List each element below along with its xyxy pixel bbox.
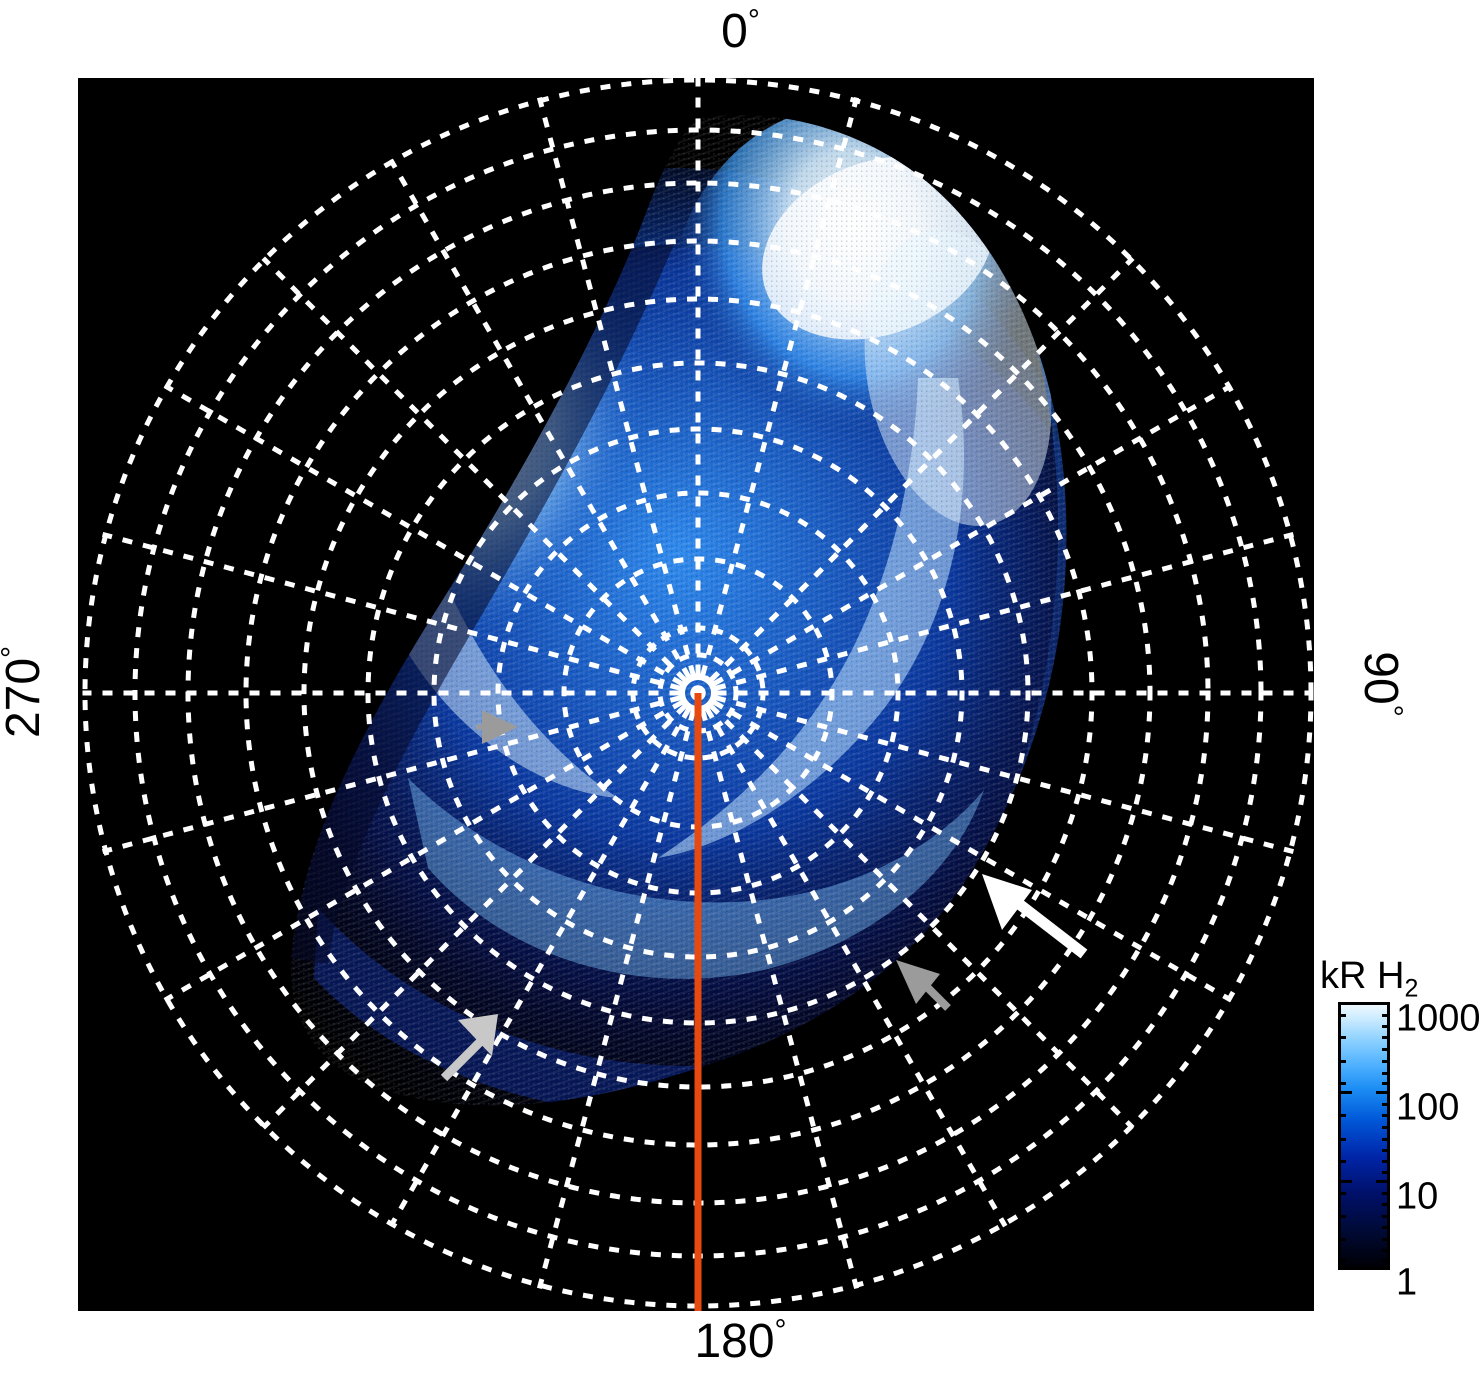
colorbar-tick-1000: [1376, 1002, 1390, 1005]
colorbar-minor-tick: [1382, 1014, 1390, 1017]
colorbar-label-1: 1: [1396, 1262, 1417, 1305]
colorbar-minor-tick: [1382, 1060, 1390, 1063]
colorbar-tick-1: [1376, 1267, 1390, 1270]
colorbar-minor-tick: [1382, 1082, 1390, 1085]
azimuth-label-90: 90°: [1356, 604, 1404, 764]
azimuth-label-270: 270°: [0, 612, 48, 772]
colorbar-minor-tick: [1382, 1103, 1390, 1106]
colorbar-tick-10-left: [1338, 1180, 1352, 1183]
colorbar-minor-tick-left: [1338, 1114, 1346, 1117]
colorbar-label-1000: 1000: [1396, 998, 1481, 1041]
colorbar-minor-tick-left: [1338, 1259, 1346, 1262]
azimuth-label-0-text: 0: [721, 5, 748, 58]
colorbar-tick-1000-left: [1338, 1002, 1352, 1005]
colorbar-minor-tick: [1382, 1138, 1390, 1141]
degree-symbol-0: °: [748, 4, 760, 37]
colorbar-title-main: kR H: [1320, 955, 1404, 997]
polar-plot-canvas: .grid { fill:none; stroke:#ffffff; strok…: [78, 78, 1314, 1311]
degree-symbol-270: °: [0, 646, 29, 658]
colorbar-minor-tick-left: [1338, 1160, 1346, 1163]
colorbar-label-10: 10: [1396, 1176, 1438, 1219]
colorbar: kR H2: [1318, 955, 1481, 1325]
colorbar-minor-tick: [1382, 1215, 1390, 1218]
azimuth-label-270-text: 270: [0, 658, 50, 738]
colorbar-minor-tick: [1382, 1126, 1390, 1129]
azimuth-label-0: 0°: [0, 8, 1481, 56]
azimuth-label-90-text: 90: [1354, 651, 1407, 704]
colorbar-minor-tick: [1382, 1238, 1390, 1241]
colorbar-minor-tick-left: [1338, 1215, 1346, 1218]
colorbar-tick-1-left: [1338, 1267, 1352, 1270]
colorbar-minor-tick-left: [1338, 1014, 1346, 1017]
figure-root: .grid { fill:none; stroke:#ffffff; strok…: [0, 0, 1481, 1386]
polar-plot-panel: .grid { fill:none; stroke:#ffffff; strok…: [78, 78, 1314, 1311]
colorbar-minor-tick: [1382, 1048, 1390, 1051]
colorbar-minor-tick: [1382, 1249, 1390, 1252]
colorbar-label-100: 100: [1396, 1087, 1459, 1130]
colorbar-tick-10: [1376, 1180, 1390, 1183]
azimuth-label-180: 180°: [0, 1318, 1481, 1366]
degree-symbol-90: °: [1375, 705, 1408, 717]
colorbar-minor-tick-left: [1338, 1192, 1346, 1195]
colorbar-minor-tick: [1382, 1072, 1390, 1075]
colorbar-minor-tick: [1382, 1025, 1390, 1028]
colorbar-minor-tick-left: [1338, 1138, 1346, 1141]
colorbar-minor-tick: [1382, 1192, 1390, 1195]
colorbar-minor-tick-left: [1338, 1060, 1346, 1063]
azimuth-label-180-text: 180: [694, 1315, 774, 1368]
colorbar-tick-100-left: [1338, 1091, 1352, 1094]
colorbar-minor-tick: [1382, 1149, 1390, 1152]
colorbar-tick-marks: [1338, 1002, 1390, 1270]
degree-symbol-180: °: [775, 1314, 787, 1347]
colorbar-minor-tick-left: [1338, 1036, 1346, 1039]
colorbar-minor-tick: [1382, 1114, 1390, 1117]
colorbar-minor-tick-left: [1338, 1082, 1346, 1085]
colorbar-minor-tick: [1382, 1036, 1390, 1039]
colorbar-minor-tick: [1382, 1160, 1390, 1163]
colorbar-minor-tick: [1382, 1226, 1390, 1229]
colorbar-minor-tick: [1382, 1171, 1390, 1174]
colorbar-minor-tick: [1382, 1203, 1390, 1206]
colorbar-minor-tick: [1382, 1259, 1390, 1262]
colorbar-minor-tick-left: [1338, 1238, 1346, 1241]
colorbar-title: kR H2: [1320, 955, 1418, 998]
colorbar-tick-100: [1376, 1091, 1390, 1094]
